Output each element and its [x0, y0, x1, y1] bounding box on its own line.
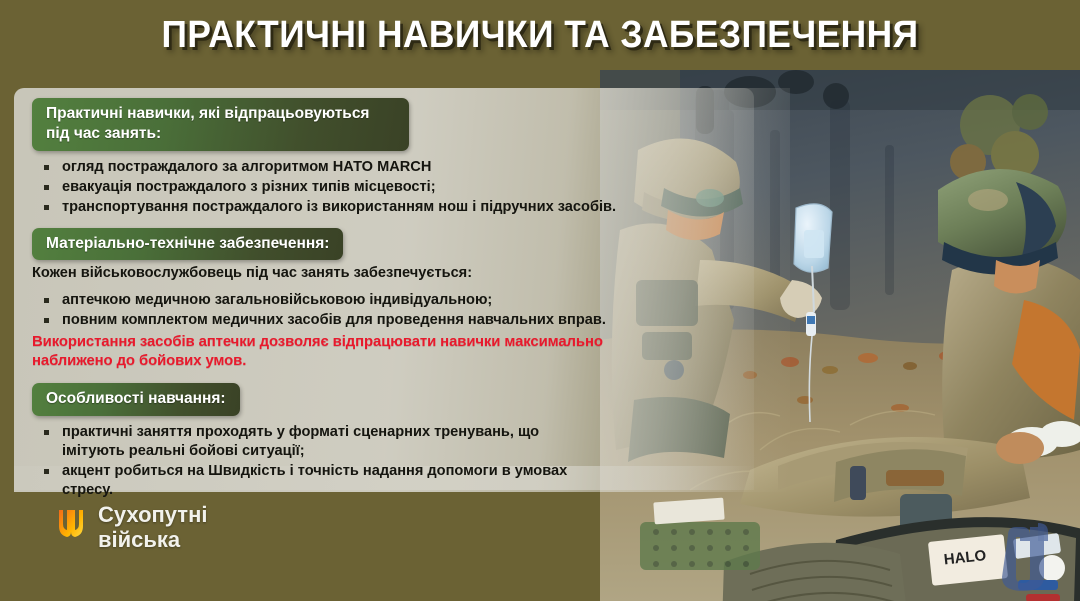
section-2-bullet-list: аптечкою медичною загальновійськовою інд… [32, 291, 774, 330]
section-1-heading: Практичні навички, які відпрацьовуються … [32, 98, 409, 151]
branding-logo: Сухопутні війська [58, 502, 207, 553]
list-item: практичні заняття проходять у форматі сц… [32, 423, 774, 461]
section-2-heading: Матеріально-технічне забезпечення: [32, 228, 343, 261]
section-3-bullet-list: практичні заняття проходять у форматі сц… [32, 423, 774, 500]
list-item-line1: практичні заняття проходять у форматі сц… [62, 423, 719, 442]
section-training-features: Особливості навчання: практичні заняття … [32, 383, 774, 500]
logo-text: Сухопутні війська [98, 502, 207, 553]
section-1-heading-line1: Практичні навички, які відпрацьовуються [46, 105, 369, 122]
page-title: ПРАКТИЧНІ НАВИЧКИ ТА ЗАБЕЗПЕЧЕННЯ [38, 14, 1042, 57]
trident-icon [58, 508, 84, 547]
section-3-heading: Особливості навчання: [32, 383, 240, 416]
list-item: повним комплектом медичних засобів для п… [32, 311, 774, 330]
section-2-highlight-note: Використання засобів аптечки дозволяє ві… [32, 333, 774, 372]
section-2-paragraph: Кожен військовослужбовець під час занять… [32, 264, 774, 283]
logo-text-line2: війська [98, 527, 180, 552]
list-item: огляд постраждалого за алгоритмом НАТО M… [32, 158, 774, 177]
list-item-line2: імітують реальні бойові ситуації; [62, 442, 719, 461]
armyinform-logo-icon [996, 509, 1068, 593]
section-1-bullet-list: огляд постраждалого за алгоритмом НАТО M… [32, 158, 774, 217]
logo-text-line1: Сухопутні [98, 502, 207, 527]
list-item: транспортування постраждалого із викорис… [32, 198, 774, 217]
list-item-line1: акцент робиться на Швидкість і точність … [62, 462, 719, 481]
section-1-heading-line2: під час занять: [46, 125, 161, 142]
section-practical-skills: Практичні навички, які відпрацьовуються … [32, 98, 774, 217]
highlight-note-line1: Використання засобів аптечки дозволяє ві… [32, 334, 603, 350]
list-item: евакуація постраждалого з різних типів м… [32, 178, 774, 197]
list-item: акцент робиться на Швидкість і точність … [32, 462, 774, 500]
list-item-line2: стресу. [62, 481, 719, 500]
highlight-note-line2: наближено до бойових умов. [32, 353, 246, 369]
section-logistics: Матеріально-технічне забезпечення: Кожен… [32, 228, 774, 372]
list-item: аптечкою медичною загальновійськовою інд… [32, 291, 774, 310]
slide-content: Практичні навички, які відпрацьовуються … [14, 88, 774, 498]
